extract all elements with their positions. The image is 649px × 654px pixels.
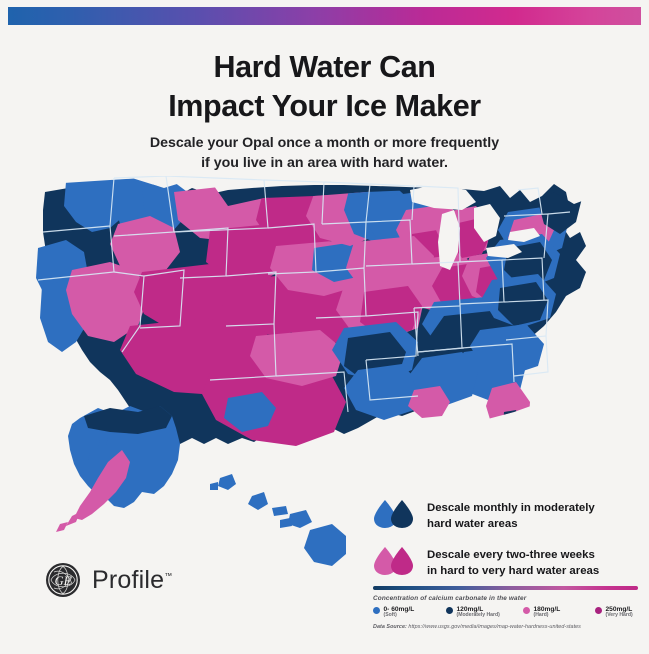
callout-moderately-hard: Descale monthly in moderately hard water… (372, 498, 640, 532)
callout-line-2: in hard to very hard water areas (427, 564, 599, 580)
trademark-symbol: ™ (164, 571, 172, 580)
headline-line-2: Impact Your Ice Maker (0, 87, 649, 126)
page-title: Hard Water Can Impact Your Ice Maker (0, 48, 649, 125)
brand-wordmark: Profile™ (92, 566, 172, 595)
subtitle-line-2: if you live in an area with hard water. (0, 153, 649, 173)
scale-dot-moderately-hard (446, 607, 453, 614)
ge-monogram-icon: GE (45, 562, 81, 598)
headline-line-1: Hard Water Can (0, 48, 649, 87)
brand-logo: GE Profile™ (45, 562, 172, 598)
data-source-note: Data Source: https://www.usgs.gov/media/… (373, 624, 581, 630)
brand-word-text: Profile (92, 566, 164, 594)
region-pink-florida (486, 382, 530, 452)
scale-dot-very-hard (595, 607, 602, 614)
scale-item-list: 0- 60mg/L (Soft) 120mg/L (Moderately Har… (373, 606, 638, 619)
map-alaska (56, 406, 180, 532)
scale-dot-soft (373, 607, 380, 614)
scale-item-very-hard: 250mg/L (Very Hard) (595, 606, 638, 619)
callout-line-1: Descale every two-three weeks (427, 548, 599, 564)
scale-caption: Concentration of calcium carbonate in th… (373, 595, 638, 602)
callout-text-moderately-hard: Descale monthly in moderately hard water… (427, 498, 595, 532)
hawaii-lanai (280, 518, 292, 528)
hawaii-molokai (272, 506, 288, 516)
scale-item-hard: 180mg/L (Hard) (523, 606, 595, 619)
svg-text:GE: GE (55, 574, 72, 588)
scale-dot-hard (523, 607, 530, 614)
hardness-scale-legend: Concentration of calcium carbonate in th… (373, 586, 638, 619)
subtitle-line-1: Descale your Opal once a month or more f… (0, 133, 649, 153)
scale-sub-moderately-hard: (Moderately Hard) (457, 613, 500, 619)
callout-text-hard-very-hard: Descale every two-three weeks in hard to… (427, 545, 599, 579)
callout-hard-very-hard: Descale every two-three weeks in hard to… (372, 545, 640, 579)
scale-gradient-bar (373, 586, 638, 590)
infographic-poster: Hard Water Can Impact Your Ice Maker Des… (0, 0, 649, 654)
subtitle: Descale your Opal once a month or more f… (0, 133, 649, 173)
water-drop-pair-blue-icon (372, 499, 416, 529)
data-source-url: https://www.usgs.gov/media/images/map-wa… (408, 624, 580, 630)
scale-item-soft: 0- 60mg/L (Soft) (373, 606, 446, 619)
data-source-label: Data Source: (373, 624, 407, 630)
hawaii-kauai (218, 474, 236, 490)
hawaii-niihau (210, 482, 218, 490)
hawaii-big-island (304, 524, 346, 566)
legend-callouts: Descale monthly in moderately hard water… (372, 498, 640, 593)
hawaii-oahu (248, 492, 268, 510)
scale-sub-soft: (Soft) (384, 613, 415, 619)
gradient-accent-bar (8, 7, 641, 25)
scale-sub-very-hard: (Very Hard) (606, 613, 633, 619)
alaska-aleutians (56, 512, 80, 532)
scale-sub-hard: (Hard) (534, 613, 561, 619)
region-navy-florida-strip (502, 410, 520, 442)
scale-item-moderately-hard: 120mg/L (Moderately Hard) (446, 606, 523, 619)
map-hawaii (210, 474, 346, 566)
water-drop-pair-pink-icon (372, 546, 416, 576)
callout-line-2: hard water areas (427, 517, 595, 533)
callout-line-1: Descale monthly in moderately (427, 501, 595, 517)
